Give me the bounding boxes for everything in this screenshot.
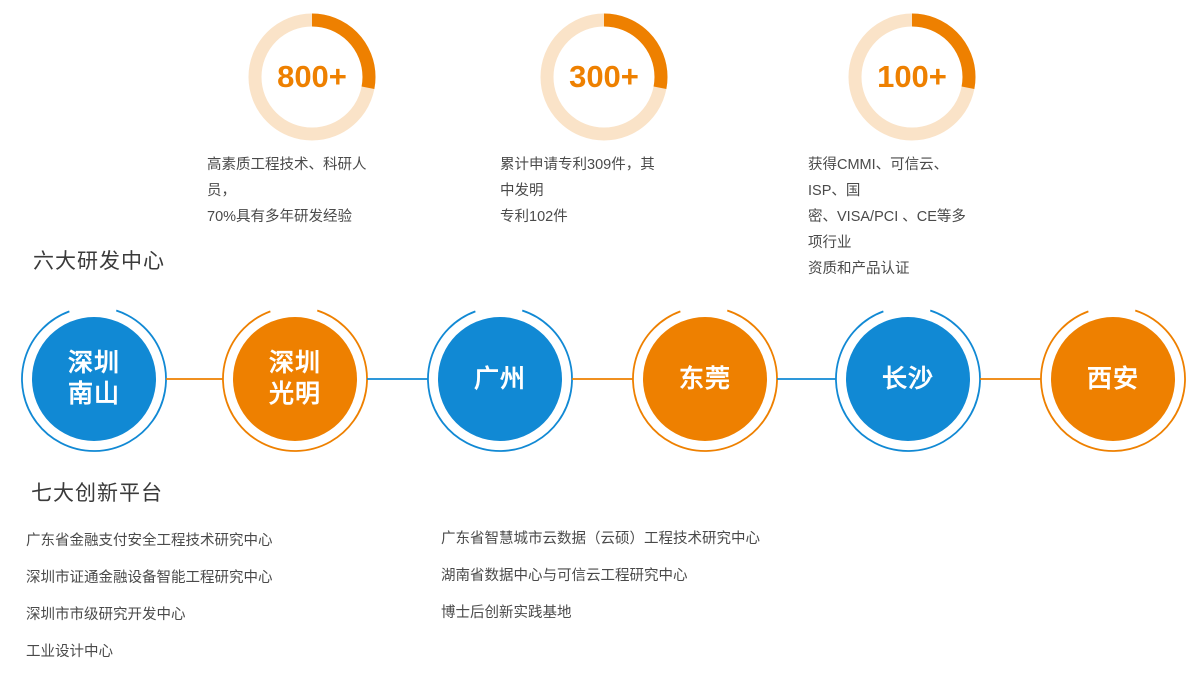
centers-connector-graphics	[0, 296, 1200, 466]
rd-center-label-5: 西安	[1087, 364, 1139, 395]
rd-center-node-0[interactable]: 深圳 南山	[32, 317, 156, 441]
platform-item-left-1: 深圳市证通金融设备智能工程研究中心	[26, 570, 273, 586]
rd-center-label-4: 长沙	[882, 364, 934, 395]
platform-item-left-2: 深圳市市级研究开发中心	[26, 607, 273, 623]
rd-center-node-4[interactable]: 长沙	[846, 317, 970, 441]
stat-card-2: 100+ 获得CMMI、可信云、ISP、国 密、VISA/PCI 、CE等多项行…	[848, 13, 976, 141]
rd-center-node-3[interactable]: 东莞	[643, 317, 767, 441]
gauge-1: 300+	[540, 13, 668, 141]
gauge-value-1: 300+	[540, 13, 668, 141]
rd-center-label-1: 深圳 光明	[269, 348, 321, 410]
gauge-0: 800+	[248, 13, 376, 141]
rd-center-node-5[interactable]: 西安	[1051, 317, 1175, 441]
stat-description-2: 获得CMMI、可信云、ISP、国 密、VISA/PCI 、CE等多项行业 资质和…	[808, 152, 976, 282]
rd-center-node-2[interactable]: 广州	[438, 317, 562, 441]
stat-card-0: 800+ 高素质工程技术、科研人员， 70%具有多年研发经验	[248, 13, 376, 141]
stats-row: 800+ 高素质工程技术、科研人员， 70%具有多年研发经验 300+ 累计申请…	[0, 0, 1200, 240]
centers-section-heading: 六大研发中心	[33, 245, 165, 275]
rd-center-label-2: 广州	[474, 364, 526, 395]
platform-item-right-2: 博士后创新实践基地	[441, 605, 760, 621]
rd-centers-row: 深圳 南山深圳 光明广州东莞长沙西安	[0, 296, 1200, 466]
platforms-section-heading: 七大创新平台	[31, 477, 163, 507]
platform-item-right-1: 湖南省数据中心与可信云工程研究中心	[441, 568, 760, 584]
rd-center-label-0: 深圳 南山	[68, 348, 120, 410]
rd-center-node-1[interactable]: 深圳 光明	[233, 317, 357, 441]
gauge-value-0: 800+	[248, 13, 376, 141]
platform-item-left-0: 广东省金融支付安全工程技术研究中心	[26, 533, 273, 549]
stat-card-1: 300+ 累计申请专利309件，其中发明 专利102件	[540, 13, 668, 141]
platform-item-left-3: 工业设计中心	[26, 644, 273, 660]
platform-item-right-0: 广东省智慧城市云数据（云硕）工程技术研究中心	[441, 531, 760, 547]
stat-description-1: 累计申请专利309件，其中发明 专利102件	[500, 152, 668, 230]
rd-center-label-3: 东莞	[679, 364, 731, 395]
platform-list-left: 广东省金融支付安全工程技术研究中心深圳市证通金融设备智能工程研究中心深圳市市级研…	[26, 533, 273, 681]
platform-list-right: 广东省智慧城市云数据（云硕）工程技术研究中心湖南省数据中心与可信云工程研究中心博…	[441, 531, 760, 642]
gauge-2: 100+	[848, 13, 976, 141]
stat-description-0: 高素质工程技术、科研人员， 70%具有多年研发经验	[207, 152, 376, 230]
gauge-value-2: 100+	[848, 13, 976, 141]
